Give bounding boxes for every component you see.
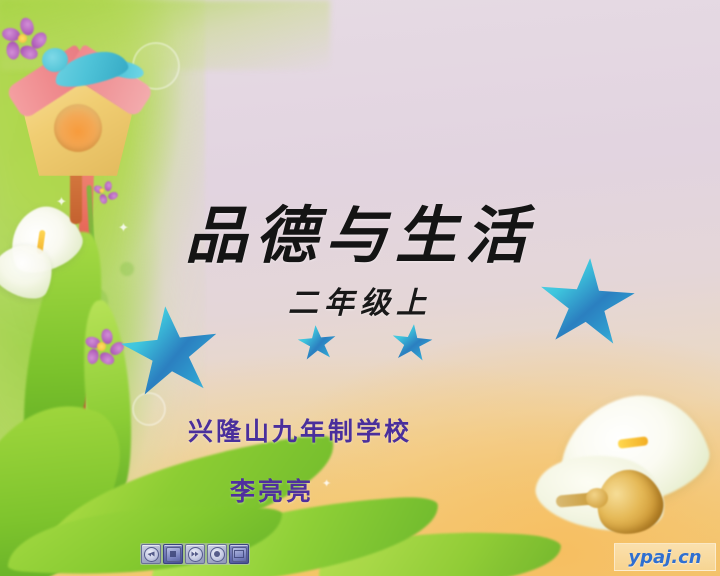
watermark-text: ypaj.cn	[628, 547, 701, 568]
previous-button[interactable]	[141, 544, 161, 564]
page-subtitle: 二年级上	[0, 278, 720, 322]
watermark: ypaj.cn	[614, 543, 716, 571]
next-button[interactable]	[185, 544, 205, 564]
purple-flower-icon	[2, 20, 52, 64]
birdhouse-hole	[54, 104, 102, 152]
previous-icon	[144, 547, 159, 562]
fullscreen-button[interactable]	[229, 544, 249, 564]
fullscreen-icon	[232, 547, 247, 562]
stop-button[interactable]	[163, 544, 183, 564]
birdhouse-icon	[12, 48, 152, 178]
page-title: 品德与生活	[0, 185, 720, 275]
presenter-name: 李亮亮	[0, 472, 720, 508]
next-icon	[188, 547, 203, 562]
stop-icon	[166, 547, 181, 562]
purple-flower-icon	[84, 330, 128, 370]
star-icon	[297, 323, 338, 362]
rewind-button[interactable]	[207, 544, 227, 564]
school-name: 兴隆山九年制学校	[0, 412, 720, 448]
star-icon	[390, 322, 434, 364]
presentation-slide: ✦ ✦ ✦ ✦ ✦	[0, 0, 720, 576]
rewind-icon	[210, 547, 225, 562]
media-control-bar[interactable]	[140, 543, 250, 565]
